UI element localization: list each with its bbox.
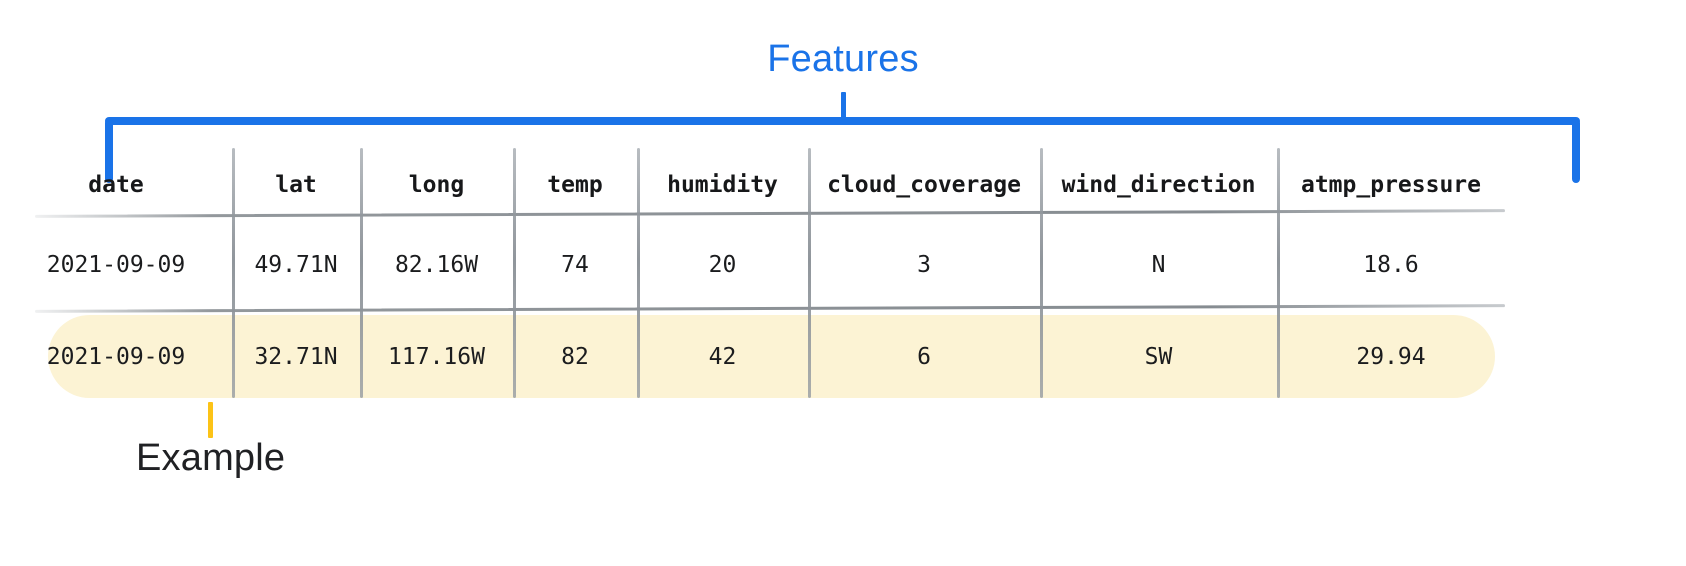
table-header-row: date lat long temp humidity cloud_covera… [0, 160, 1686, 210]
cell-humidity: 42 [637, 332, 808, 382]
table-grid: date lat long temp humidity cloud_covera… [0, 140, 1686, 402]
cell-wind-direction: N [1040, 240, 1277, 290]
cell-lat: 49.71N [232, 240, 360, 290]
example-annotation-label: Example [136, 437, 285, 480]
features-annotation-label: Features [0, 38, 1686, 81]
cell-cloud-coverage: 6 [808, 332, 1040, 382]
diagram-canvas: Features date lat long temp humidity clo… [0, 0, 1686, 566]
column-header-long: long [360, 160, 513, 210]
column-header-humidity: humidity [637, 160, 808, 210]
column-header-cloud-coverage: cloud_coverage [808, 160, 1040, 210]
cell-date: 2021-09-09 [0, 332, 232, 382]
column-header-atmp-pressure: atmp_pressure [1277, 160, 1505, 210]
cell-atmp-pressure: 18.6 [1277, 240, 1505, 290]
cell-long: 117.16W [360, 332, 513, 382]
column-header-lat: lat [232, 160, 360, 210]
cell-cloud-coverage: 3 [808, 240, 1040, 290]
cell-atmp-pressure: 29.94 [1277, 332, 1505, 382]
column-header-date: date [0, 160, 232, 210]
cell-lat: 32.71N [232, 332, 360, 382]
column-header-temp: temp [513, 160, 637, 210]
example-connector-line [208, 402, 213, 438]
cell-humidity: 20 [637, 240, 808, 290]
cell-temp: 74 [513, 240, 637, 290]
column-header-wind-direction: wind_direction [1040, 160, 1277, 210]
cell-date: 2021-09-09 [0, 240, 232, 290]
data-table: date lat long temp humidity cloud_covera… [0, 140, 1686, 402]
cell-temp: 82 [513, 332, 637, 382]
features-brace-bar [105, 117, 1580, 125]
table-row-example: 2021-09-09 32.71N 117.16W 82 42 6 SW 29.… [0, 332, 1686, 382]
table-row: 2021-09-09 49.71N 82.16W 74 20 3 N 18.6 [0, 240, 1686, 290]
cell-wind-direction: SW [1040, 332, 1277, 382]
cell-long: 82.16W [360, 240, 513, 290]
